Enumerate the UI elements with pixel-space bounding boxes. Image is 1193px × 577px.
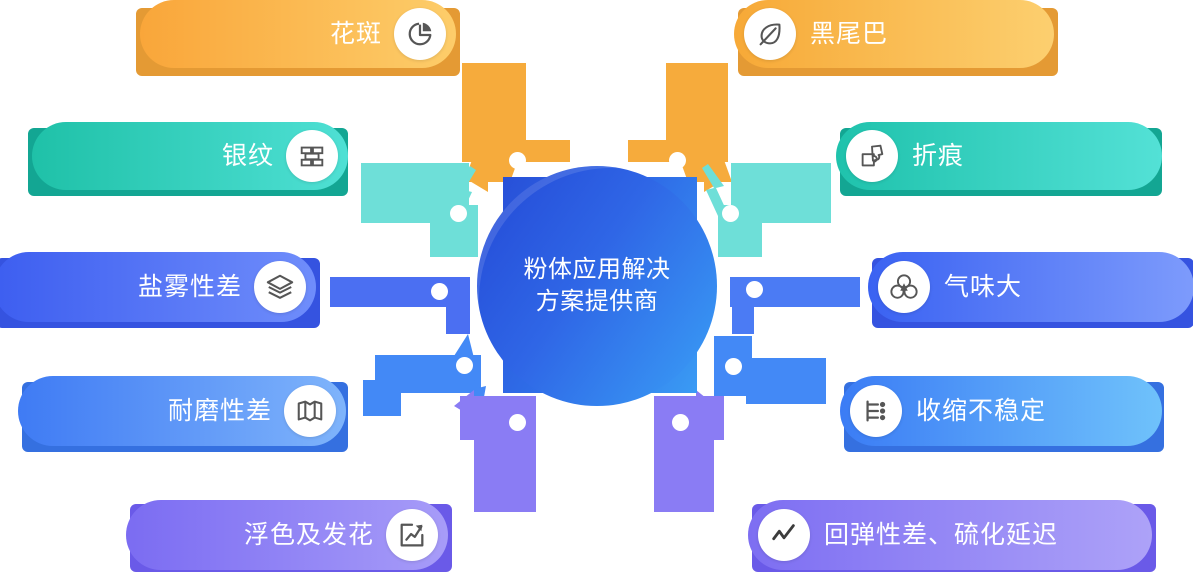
node-qiweida-label: 气味大: [944, 275, 1022, 300]
infographic-canvas: 粉体应用解决 方案提供商 花斑 黑尾巴 银纹: [0, 0, 1193, 577]
connector-dot: [509, 152, 526, 169]
node-yanwu[interactable]: 盐雾性差: [0, 252, 316, 322]
arrow-head-icon: [448, 386, 488, 420]
leaf-icon: [744, 8, 796, 60]
center-node[interactable]: 粉体应用解决 方案提供商: [477, 166, 717, 406]
recycle-icon: [878, 261, 930, 313]
center-title-line1: 粉体应用解决: [524, 256, 671, 283]
node-zhehen-label: 折痕: [912, 144, 964, 169]
layers-icon: [254, 261, 306, 313]
node-huaban[interactable]: 花斑: [140, 0, 456, 68]
connector-dot: [456, 357, 473, 374]
node-fuse-label: 浮色及发花: [244, 523, 374, 548]
node-heiweiba-label: 黑尾巴: [810, 22, 888, 47]
connector-dot: [669, 152, 686, 169]
connector-dot: [725, 358, 742, 375]
node-yinwen-label: 银纹: [222, 144, 274, 169]
connector-dot: [722, 205, 739, 222]
connector-dot: [450, 205, 467, 222]
node-yinwen[interactable]: 银纹: [32, 122, 348, 190]
connector-dot: [509, 414, 526, 431]
node-naimo-label: 耐磨性差: [168, 399, 272, 424]
node-huitan-label: 回弹性差、硫化延迟: [824, 523, 1058, 548]
sitemap-icon: [850, 385, 902, 437]
pie-chart-icon: [394, 8, 446, 60]
node-shousuo-label: 收缩不稳定: [916, 399, 1046, 424]
center-title-line2: 方案提供商: [536, 288, 659, 315]
open-book-icon: [284, 385, 336, 437]
connector-dot: [431, 283, 448, 300]
node-huaban-label: 花斑: [330, 22, 382, 47]
connector-dot: [746, 281, 763, 298]
chart-arrow-icon: [386, 509, 438, 561]
brick-wall-icon: [286, 130, 338, 182]
node-huitan[interactable]: 回弹性差、硫化延迟: [748, 500, 1152, 570]
node-shousuo[interactable]: 收缩不稳定: [840, 376, 1162, 446]
node-heiweiba[interactable]: 黑尾巴: [734, 0, 1054, 68]
center-title: 粉体应用解决 方案提供商: [507, 254, 687, 319]
node-fuse[interactable]: 浮色及发花: [126, 500, 448, 570]
connector-dot: [672, 414, 689, 431]
node-yanwu-label: 盐雾性差: [138, 275, 242, 300]
node-zhehen[interactable]: 折痕: [836, 122, 1162, 190]
node-naimo[interactable]: 耐磨性差: [18, 376, 346, 446]
node-qiweida[interactable]: 气味大: [868, 252, 1193, 322]
line-chart-icon: [758, 509, 810, 561]
puzzle-piece-icon: [846, 130, 898, 182]
